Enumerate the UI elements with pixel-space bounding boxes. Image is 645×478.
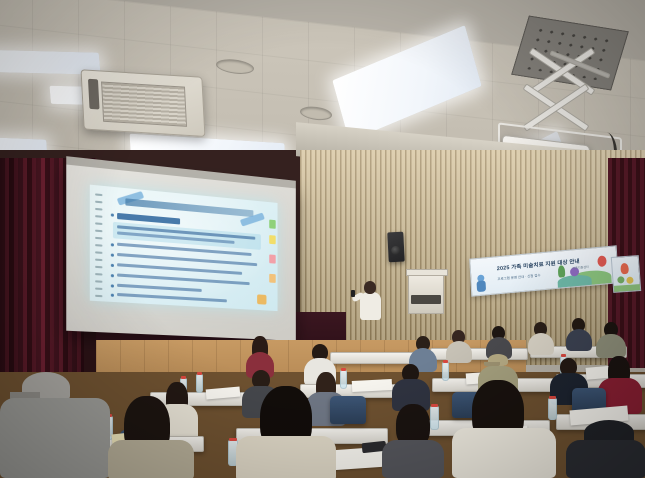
attendee-body — [452, 428, 556, 478]
audience-desk — [430, 348, 528, 360]
poster-graphic — [626, 277, 633, 284]
attendee-body — [446, 341, 472, 363]
water-bottle — [442, 362, 449, 381]
microphone — [351, 290, 355, 297]
banner-headline: 2025 가족 미술치료 지원 대상 안내 — [497, 257, 580, 273]
bottle-cap — [341, 368, 346, 371]
slide-index-tab-green — [269, 220, 275, 229]
slide-bullet — [111, 213, 114, 216]
attendee-body — [108, 440, 194, 478]
bottle-cap — [549, 396, 556, 399]
poster-ground — [614, 284, 640, 292]
slide-bullet — [111, 284, 114, 287]
speaker-cone — [391, 246, 400, 255]
banner-figure-left-body — [477, 280, 487, 292]
equipment-cabinet — [408, 272, 444, 314]
slide-bullet — [111, 274, 114, 277]
bottle-cap — [181, 376, 186, 379]
banner-subline: 프로그램 운영 안내 · 신청 접수 — [497, 272, 540, 281]
attendee-body — [0, 398, 110, 478]
air-conditioner-cassette — [81, 69, 206, 137]
slide-bullet — [111, 294, 114, 297]
bottle-cap — [431, 404, 438, 407]
bottle-cap — [561, 354, 566, 357]
audience-chair — [330, 396, 366, 424]
slide-bullet — [111, 264, 114, 267]
lecture-hall-photo: 2025 가족 미술치료 지원 대상 안내 프로그램 운영 안내 · 신청 접수… — [0, 0, 645, 478]
wall-speaker — [387, 232, 405, 263]
slide-stamp-icon — [257, 294, 266, 304]
ac-vent-louver — [88, 79, 99, 110]
slide-index-tab-pink — [269, 254, 275, 263]
attendee-body — [382, 440, 444, 478]
attendee-body — [566, 440, 645, 478]
banner-tree — [558, 265, 566, 278]
bottle-cap — [229, 438, 237, 441]
attendee-body — [596, 334, 626, 358]
banner-balloon — [597, 255, 607, 267]
slide-bullet — [111, 253, 114, 256]
slide-spiral-binding — [95, 193, 102, 293]
handout-paper — [352, 379, 393, 392]
presenter-head — [364, 281, 376, 294]
ac-grille — [101, 82, 187, 126]
wall-poster — [611, 255, 641, 293]
bottle-cap — [197, 372, 202, 375]
projected-slide — [90, 185, 278, 311]
poster-graphic — [617, 276, 624, 283]
water-bottle — [548, 398, 557, 420]
water-bottle — [196, 374, 203, 393]
attendee-body — [236, 436, 336, 478]
projection-screen — [66, 163, 296, 340]
poster-graphic — [620, 263, 629, 275]
water-bottle — [430, 406, 439, 430]
cabinet-top — [406, 269, 448, 276]
bottle-cap — [443, 360, 448, 363]
slide-index-tab-orange — [269, 274, 275, 283]
banner-host: 가족지원센터 — [572, 265, 589, 270]
attendee-body — [566, 329, 592, 351]
slide-index-tab-yellow — [269, 235, 275, 244]
cabinet-equipment — [411, 295, 441, 304]
slide-bullet — [111, 243, 114, 246]
attendee-body — [528, 333, 554, 355]
water-bottle — [340, 370, 347, 389]
